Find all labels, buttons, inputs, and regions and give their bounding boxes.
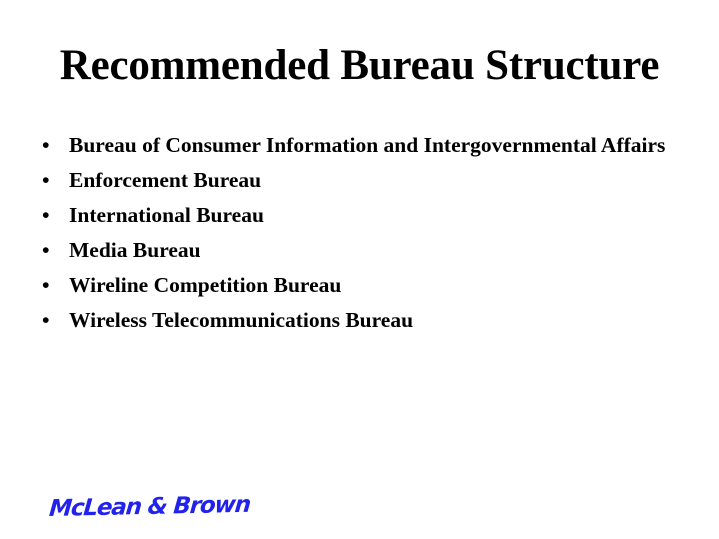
bullet-point-icon: • — [42, 236, 62, 265]
signature-logo: McLean & Brown — [48, 490, 251, 524]
bureau-bullet-list: • Bureau of Consumer Information and Int… — [40, 131, 680, 335]
bullet-point-icon: • — [42, 166, 62, 195]
list-item-label: Wireless Telecommunications Bureau — [69, 306, 680, 335]
bullet-point-icon: • — [42, 271, 62, 300]
list-item: • Media Bureau — [40, 236, 680, 265]
list-item-label: Media Bureau — [69, 236, 680, 265]
page-title: Recommended Bureau Structure — [0, 42, 719, 90]
list-item-label: Wireline Competition Bureau — [69, 271, 680, 300]
list-item: • Bureau of Consumer Information and Int… — [40, 131, 680, 160]
list-item: • Wireless Telecommunications Bureau — [40, 306, 680, 335]
slide-canvas: Recommended Bureau Structure • Bureau of… — [0, 0, 719, 539]
list-item-label: Enforcement Bureau — [69, 166, 680, 195]
list-item-label: Bureau of Consumer Information and Inter… — [69, 131, 680, 160]
bullet-point-icon: • — [42, 201, 62, 230]
bullet-point-icon: • — [42, 306, 62, 335]
list-item: • International Bureau — [40, 201, 680, 230]
list-item: • Enforcement Bureau — [40, 166, 680, 195]
list-item-label: International Bureau — [69, 201, 680, 230]
bullet-point-icon: • — [42, 131, 62, 160]
list-item: • Wireline Competition Bureau — [40, 271, 680, 300]
